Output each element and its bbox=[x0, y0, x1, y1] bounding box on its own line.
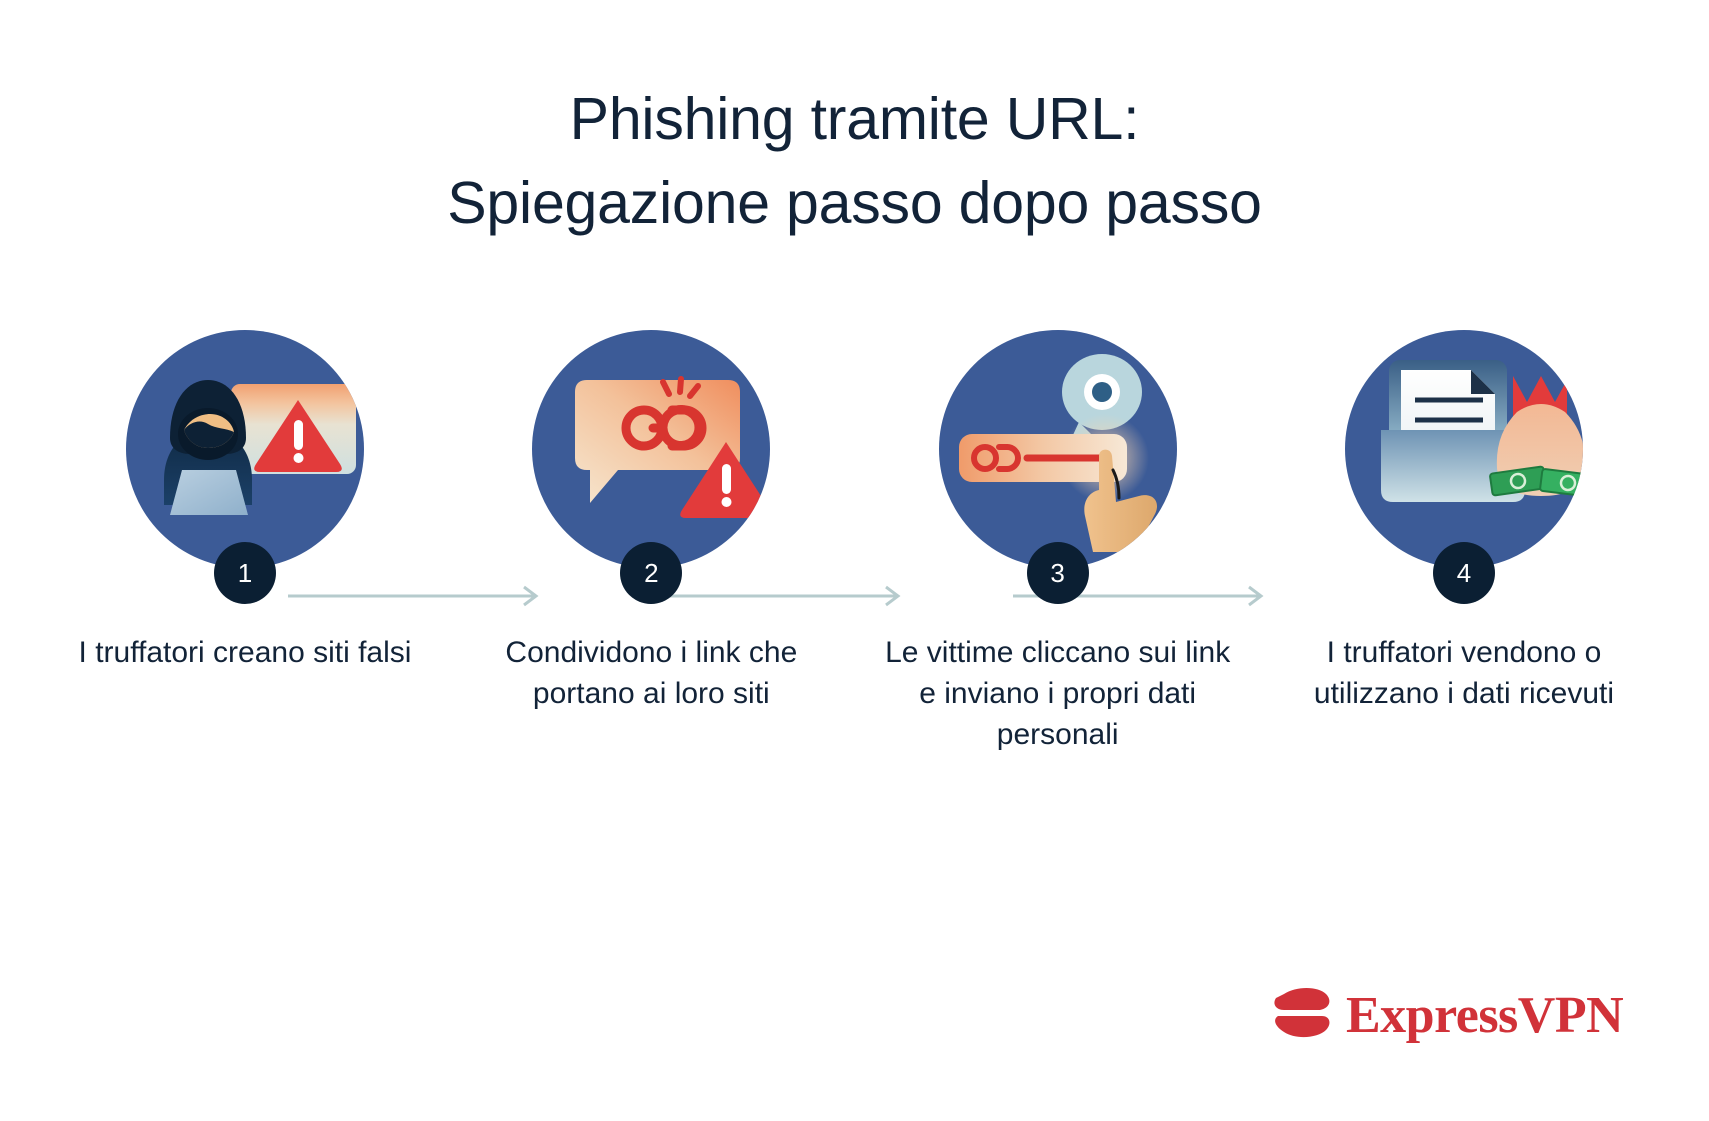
step-2-number: 2 bbox=[644, 558, 658, 589]
step-4-circle bbox=[1345, 330, 1583, 568]
folder-document-money-icon bbox=[1345, 330, 1583, 568]
message-broken-link-warning-icon bbox=[532, 330, 770, 568]
step-3-caption: Le vittime cliccano sui link e inviano i… bbox=[880, 632, 1235, 755]
step-4-number: 4 bbox=[1457, 558, 1471, 589]
step-4-illustration-wrap: 4 bbox=[1345, 330, 1583, 604]
url-bar-click-eye-icon bbox=[939, 330, 1177, 568]
step-2-illustration-wrap: 2 bbox=[532, 330, 770, 604]
step-1: 1 I truffatori creano siti falsi bbox=[64, 330, 426, 673]
step-1-number-badge: 1 bbox=[214, 542, 276, 604]
page-title-line-1: Phishing tramite URL: bbox=[0, 78, 1709, 162]
hacker-laptop-warning-icon bbox=[126, 330, 364, 568]
expressvpn-wordmark: ExpressVPN bbox=[1346, 990, 1623, 1042]
page-title-line-2: Spiegazione passo dopo passo bbox=[0, 162, 1709, 246]
step-3-circle bbox=[939, 330, 1177, 568]
step-4-number-badge: 4 bbox=[1433, 542, 1495, 604]
step-2-circle bbox=[532, 330, 770, 568]
step-1-caption: I truffatori creano siti falsi bbox=[68, 632, 423, 673]
expressvpn-logo: ExpressVPN bbox=[1272, 984, 1623, 1047]
step-2-number-badge: 2 bbox=[620, 542, 682, 604]
page-title: Phishing tramite URL: Spiegazione passo … bbox=[0, 78, 1709, 246]
step-2: 2 Condividono i link che portano ai loro… bbox=[470, 330, 832, 714]
arrow-step-1-to-2 bbox=[288, 585, 543, 607]
step-3: 3 Le vittime cliccano sui link e inviano… bbox=[877, 330, 1239, 755]
step-1-circle bbox=[126, 330, 364, 568]
step-3-number-badge: 3 bbox=[1027, 542, 1089, 604]
step-2-caption: Condividono i link che portano ai loro s… bbox=[474, 632, 829, 714]
step-4: 4 I truffatori vendono o utilizzano i da… bbox=[1283, 330, 1645, 714]
step-1-number: 1 bbox=[238, 558, 252, 589]
step-3-number: 3 bbox=[1050, 558, 1064, 589]
step-3-illustration-wrap: 3 bbox=[939, 330, 1177, 604]
steps-row: 1 I truffatori creano siti falsi bbox=[64, 330, 1645, 755]
expressvpn-e-mark-icon bbox=[1272, 984, 1334, 1047]
step-4-caption: I truffatori vendono o utilizzano i dati… bbox=[1286, 632, 1641, 714]
arrow-step-2-to-3 bbox=[650, 585, 905, 607]
step-1-illustration-wrap: 1 bbox=[126, 330, 364, 604]
